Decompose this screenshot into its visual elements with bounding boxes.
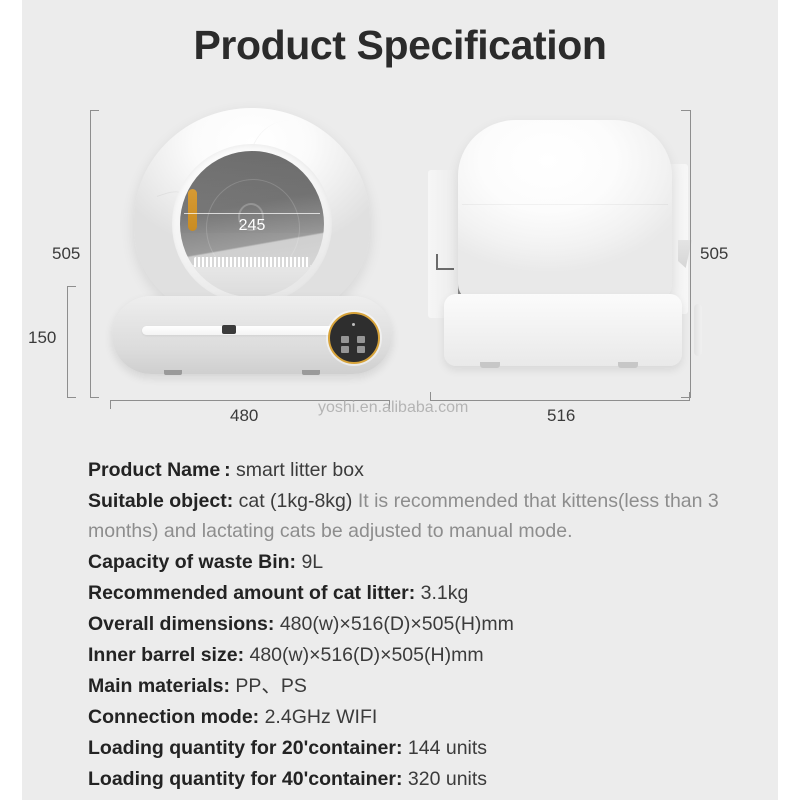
spec-row: Connection mode: 2.4GHz WIFI	[88, 702, 748, 732]
dial-power-dot	[352, 323, 355, 326]
front-width-tick-left	[110, 400, 111, 409]
dial-icon-right	[357, 336, 365, 343]
specification-list: Product Name : smart litter boxSuitable …	[88, 455, 748, 800]
front-height-tick-bottom	[90, 397, 99, 398]
spec-value: 9L	[296, 551, 323, 573]
spec-row: Overall dimensions: 480(w)×516(D)×505(H)…	[88, 609, 748, 639]
dial-icon-left	[341, 336, 349, 343]
spec-value: 144 units	[403, 737, 488, 759]
product-front-view-image: 245	[112, 108, 402, 398]
side-body-seam	[462, 204, 668, 205]
spec-value: 480(w)×516(D)×505(H)mm	[274, 613, 514, 635]
spec-value: 2.4GHz WIFI	[259, 706, 377, 728]
front-height-tick-top	[90, 110, 99, 111]
spec-row: Loading quantity for 20'container: 144 u…	[88, 733, 748, 763]
spec-value: PP、PS	[230, 675, 307, 697]
spec-value: 480(w)×516(D)×505(H)mm	[244, 644, 484, 666]
side-base-drawer	[444, 294, 682, 366]
spec-row: Loading quantity for 40'container: 320 u…	[88, 764, 748, 794]
spec-row: Capacity of waste Bin: 9L	[88, 547, 748, 577]
dial-icon-bottom-left	[341, 346, 349, 353]
base-light-strip	[142, 326, 358, 335]
spec-value: 320 units	[403, 768, 488, 790]
spec-row: Main materials: PP、PS	[88, 671, 748, 701]
front-base-height-dim-line	[67, 286, 68, 398]
side-height-label: 505	[700, 244, 728, 264]
figure-area: 505 150 480 245	[22, 100, 778, 430]
side-width-label: 516	[547, 406, 575, 426]
front-base-tick-bottom	[67, 397, 76, 398]
spec-value: smart litter box	[231, 459, 364, 481]
interior-measure-line	[184, 213, 320, 214]
spec-label: Capacity of waste Bin:	[88, 551, 296, 573]
side-height-tick-top	[681, 110, 690, 111]
control-dial	[328, 312, 380, 364]
spec-value: cat (1kg-8kg)	[233, 490, 352, 512]
front-base-tick-top	[67, 286, 76, 287]
chamber-comb-step	[194, 257, 310, 267]
front-inner-chamber: 245	[180, 151, 324, 297]
spec-value: 3.1kg	[415, 582, 468, 604]
front-foot-left	[164, 370, 182, 375]
page-title: Product Specification	[0, 22, 800, 69]
side-body	[458, 120, 672, 306]
side-height-dim-line	[690, 110, 691, 398]
front-height-label: 505	[52, 244, 80, 264]
front-height-dim-line	[90, 110, 91, 398]
side-width-dim-line	[430, 400, 690, 401]
spec-row: Suitable object: cat (1kg-8kg) It is rec…	[88, 486, 748, 546]
spec-label: Product Name :	[88, 459, 231, 481]
product-specification-page: Product Specification 505 150 480	[0, 0, 800, 800]
interior-measure-label: 245	[180, 217, 324, 235]
spec-label: Suitable object:	[88, 490, 233, 512]
spec-label: Recommended amount of cat litter:	[88, 582, 415, 604]
watermark: yoshi.en.alibaba.com	[318, 399, 468, 417]
front-base-height-label: 150	[28, 328, 56, 348]
spec-label: Inner barrel size:	[88, 644, 244, 666]
side-foot-left	[480, 362, 500, 368]
side-l-bracket-mark	[436, 254, 454, 270]
spec-label: Main materials:	[88, 675, 230, 697]
front-width-label: 480	[230, 406, 258, 426]
spec-label: Loading quantity for 20'container:	[88, 737, 403, 759]
spec-row: Product Name : smart litter box	[88, 455, 748, 485]
base-sensor	[222, 325, 236, 334]
side-base-edge	[694, 304, 702, 356]
chamber-floor	[186, 265, 318, 297]
spec-label: Loading quantity for 40'container:	[88, 768, 403, 790]
spec-label: Overall dimensions:	[88, 613, 274, 635]
product-side-view-image	[422, 108, 712, 398]
spec-label: Connection mode:	[88, 706, 259, 728]
spec-row: Inner barrel size: 480(w)×516(D)×505(H)m…	[88, 640, 748, 670]
side-foot-right	[618, 362, 638, 368]
front-foot-right	[302, 370, 320, 375]
front-base-drawer	[112, 296, 392, 374]
dial-icon-bottom-right	[357, 346, 365, 353]
side-width-tick-right	[689, 392, 690, 401]
spec-row: Loading quantity for 40'HQ container: 40…	[88, 795, 748, 800]
spec-row: Recommended amount of cat litter: 3.1kg	[88, 578, 748, 608]
